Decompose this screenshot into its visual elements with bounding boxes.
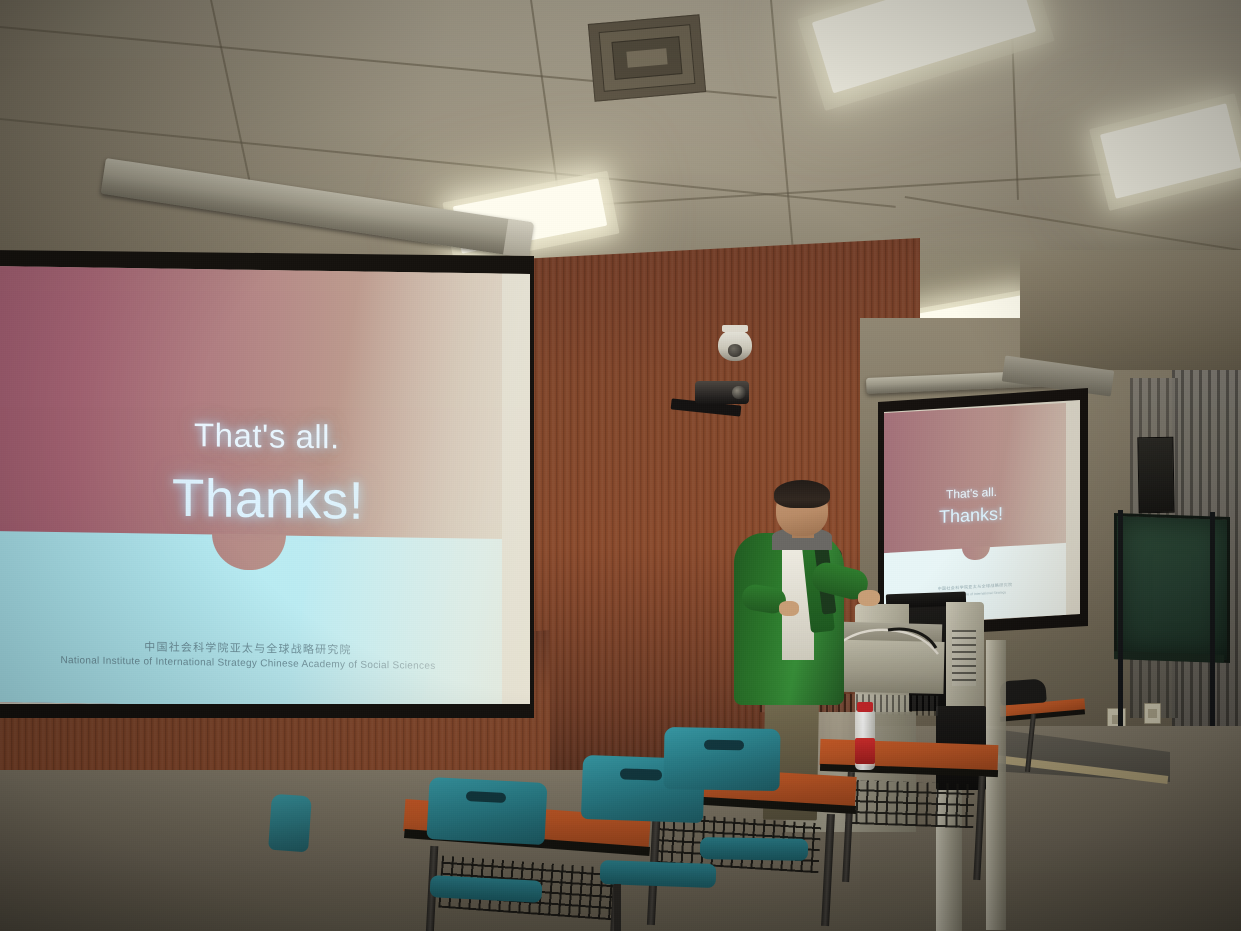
bottle-cap [857,702,873,712]
chalkboard-stand-leg-right [1210,512,1215,740]
chair-handle-slot-3 [704,740,744,751]
presenter-hair [774,480,830,508]
wall-outlet-right-2[interactable] [1144,703,1161,724]
dome-camera-icon [718,329,752,361]
desk-basket-back [845,780,974,828]
projection-screen-main: That's all. Thanks! 中国社会科学院亚太与全球战略研究院 Na… [0,238,542,718]
camera-lens-icon-2 [732,386,746,400]
slide-title: That's all. [194,416,340,456]
presenter-hand-right [858,590,880,606]
bottle-label [855,738,875,764]
camera-lens-icon [728,344,743,356]
presenter-hand-left [779,601,799,616]
slide-headline-2: Thanks! [939,503,1003,528]
slide-headline: Thanks! [172,468,364,532]
chair-back-3[interactable] [663,727,780,791]
lectern-column-2 [986,640,1006,930]
screen-surface: That's all. Thanks! 中国社会科学院亚太与全球战略研究院 Na… [0,252,530,704]
chair-handle-slot-2 [620,768,662,780]
dark-bag-on-desk [999,678,1047,705]
housing-end-cap [503,219,534,258]
chair-handle-slot-1 [466,791,506,803]
slide-title-2: That's all. [946,485,997,502]
slide-canvas: That's all. Thanks! 中国社会科学院亚太与全球战略研究院 Na… [0,258,502,704]
beige-wall-upper [1020,250,1241,370]
slide-top-area-2 [884,403,1066,553]
chair-back-0[interactable] [268,794,312,853]
chair-leg-2 [614,884,621,931]
video-camera-icon [695,381,749,404]
slide-canvas-2: That's all. Thanks! 中国社会科学院亚太与全球战略研究院 Na… [884,403,1066,625]
wall-speaker [1137,437,1174,514]
air-vent-icon [588,14,706,101]
chair-back-1[interactable] [426,777,547,845]
screen-surface-2: That's all. Thanks! 中国社会科学院亚太与全球战略研究院 Na… [884,400,1080,626]
lecture-hall-photo: That's all. Thanks! 中国社会科学院亚太与全球战略研究院 Na… [0,0,1241,931]
dome-camera-base [722,325,748,332]
chair-seat-3[interactable] [700,837,808,861]
chalkboard-stand-leg-left [1118,510,1123,740]
